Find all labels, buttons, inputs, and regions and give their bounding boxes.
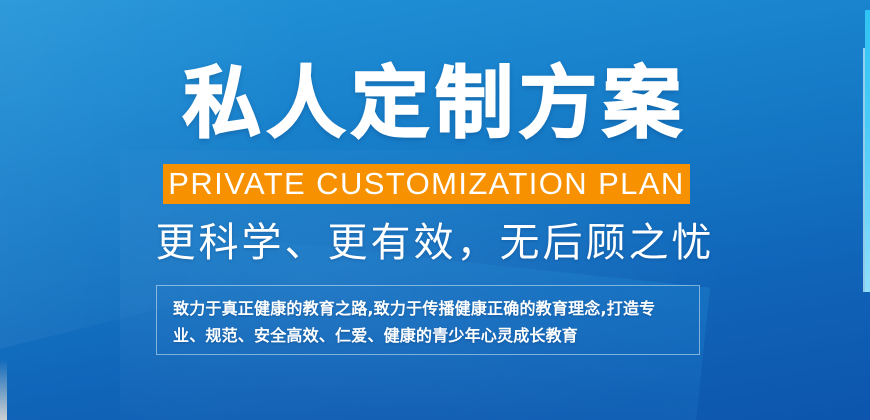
promo-banner: 私人定制方案 PRIVATE CUSTOMIZATION PLAN 更科学、更有… xyxy=(0,0,870,420)
banner-content: 私人定制方案 PRIVATE CUSTOMIZATION PLAN 更科学、更有… xyxy=(0,0,870,420)
english-subtitle-band: PRIVATE CUSTOMIZATION PLAN xyxy=(163,164,690,204)
subheadline-chinese: 更科学、更有效，无后顾之忧 xyxy=(0,216,870,270)
english-subtitle-text: PRIVATE CUSTOMIZATION PLAN xyxy=(163,164,690,204)
headline-chinese: 私人定制方案 xyxy=(0,58,870,150)
description-text: 致力于真正健康的教育之路,致力于传播健康正确的教育理念,打造专业、规范、安全高效… xyxy=(173,295,683,349)
description-box: 致力于真正健康的教育之路,致力于传播健康正确的教育理念,打造专业、规范、安全高效… xyxy=(156,285,700,355)
